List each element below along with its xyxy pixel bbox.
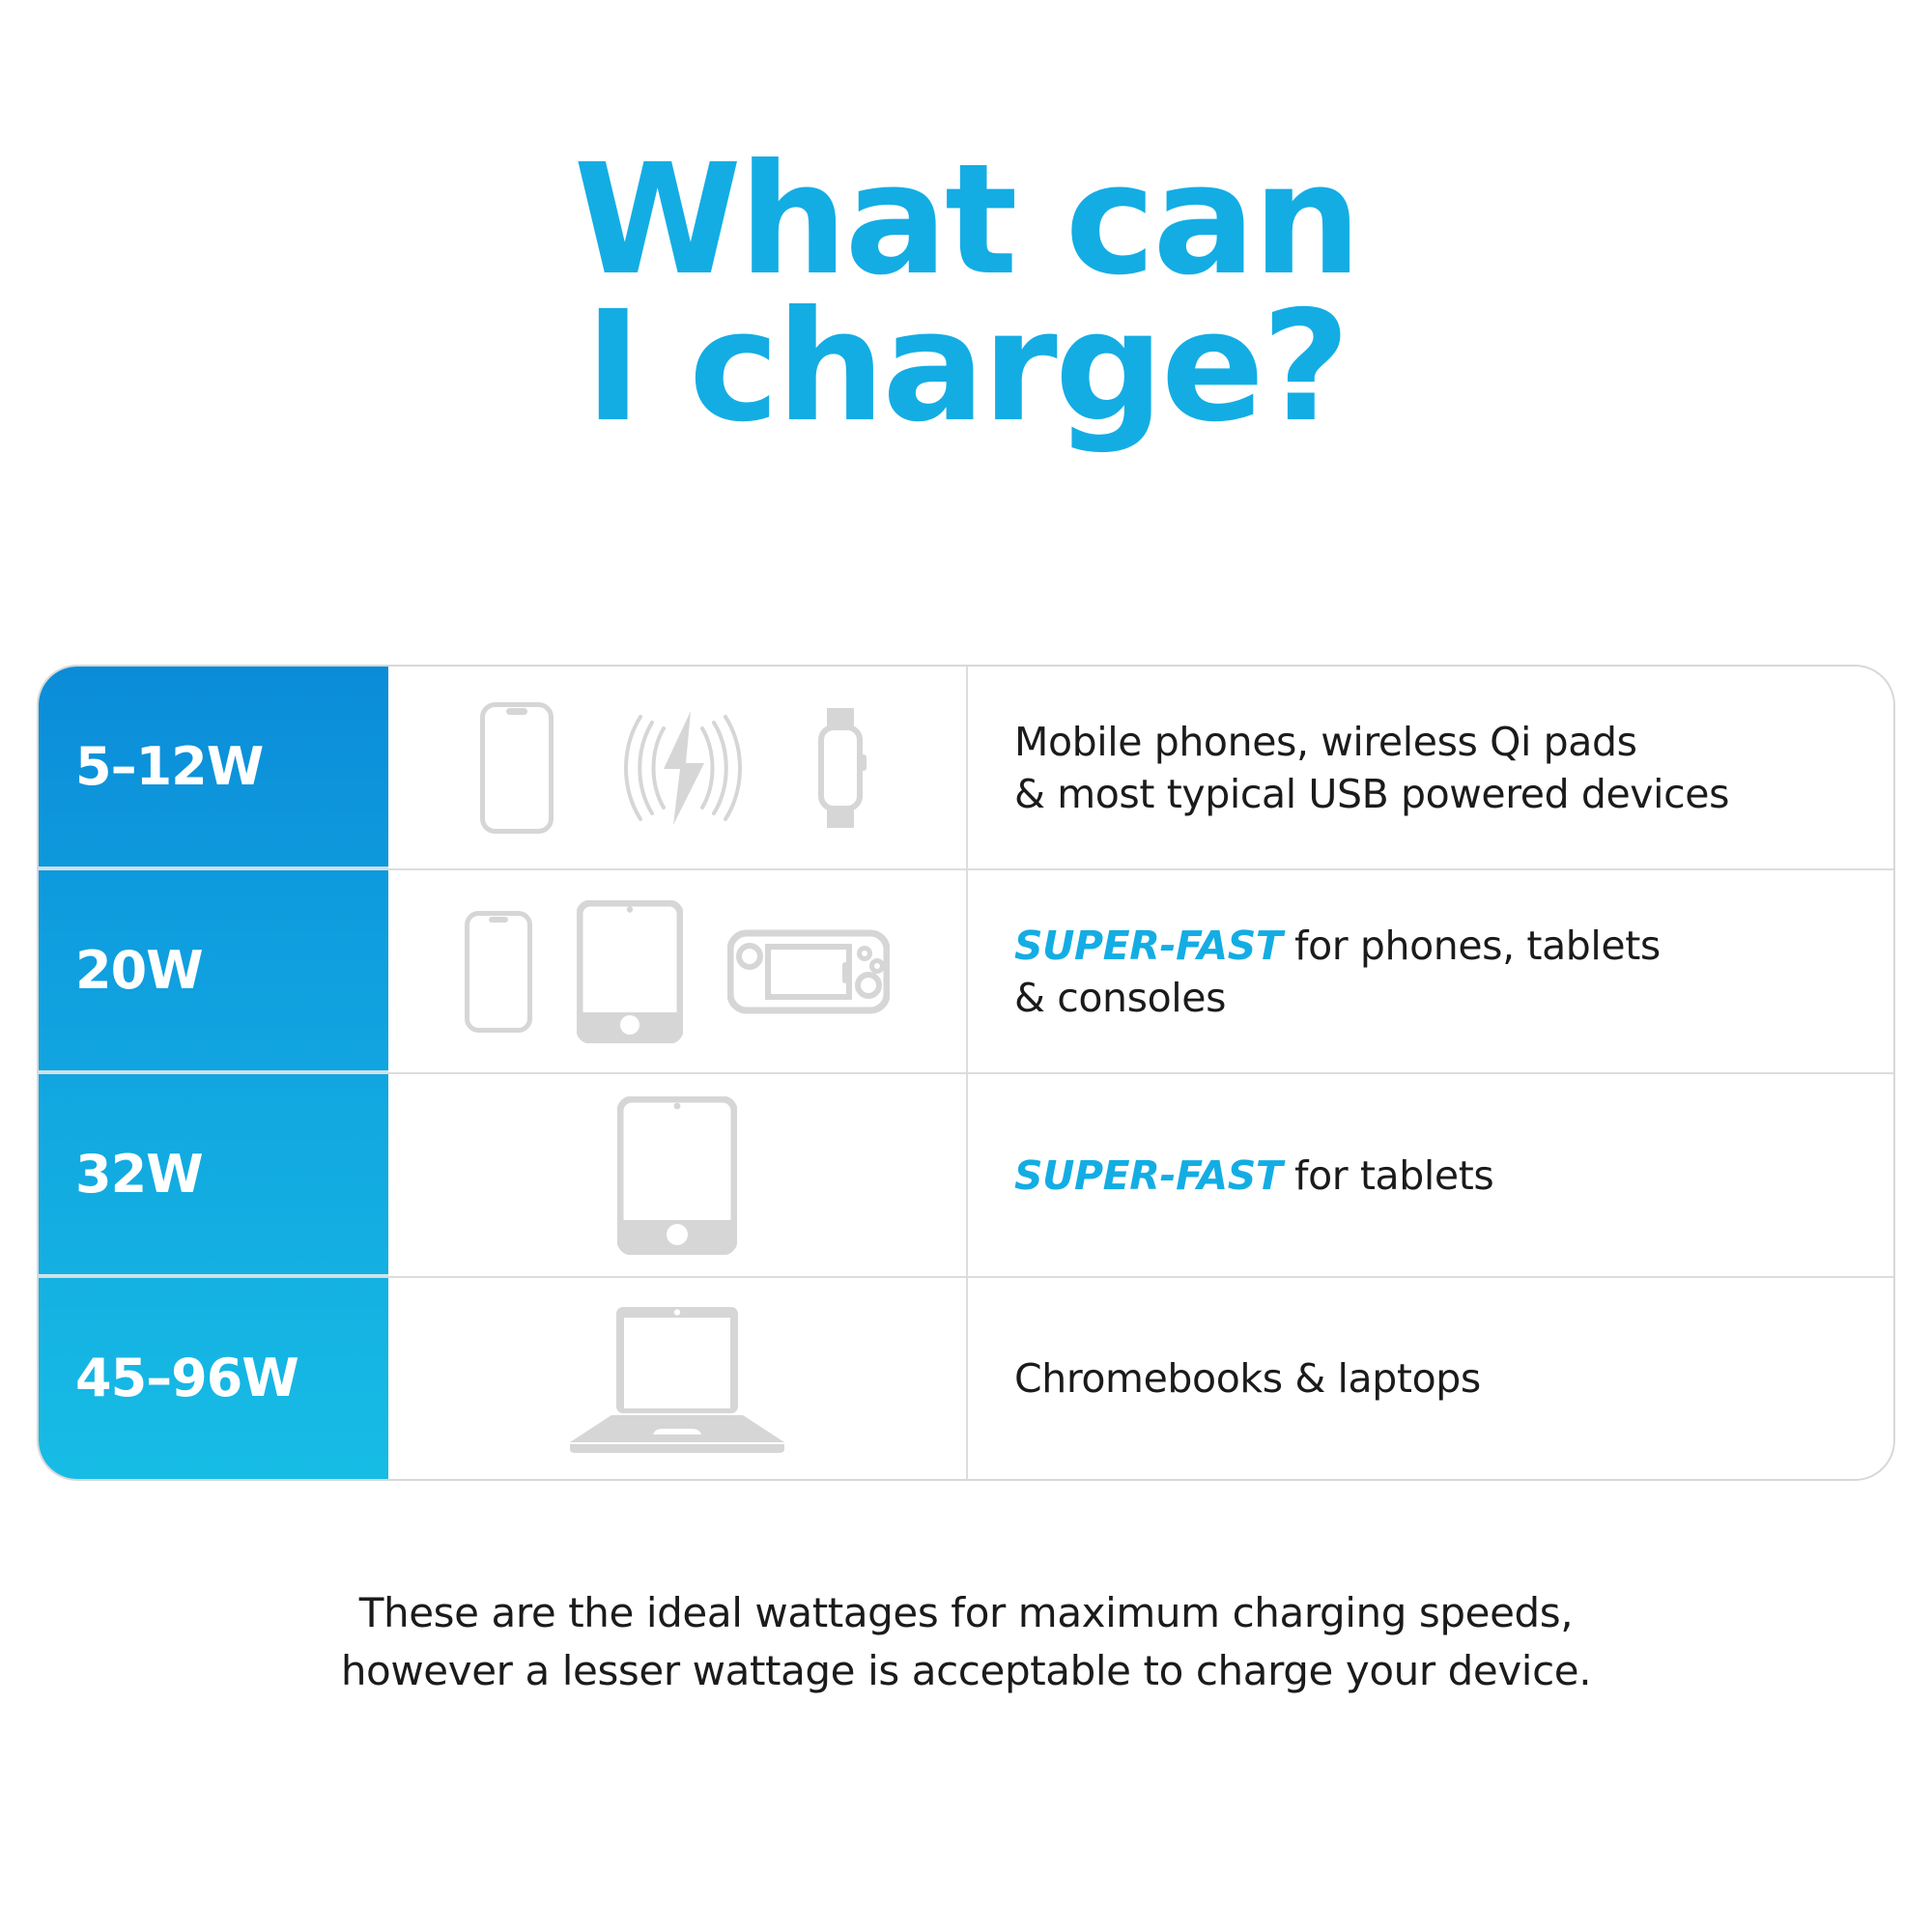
description-cell: SUPER-FAST for phones, tablets & console… xyxy=(968,870,1893,1072)
wattage-label: 5–12W xyxy=(75,741,263,793)
phone-notch-icon xyxy=(465,911,532,1033)
super-fast-emphasis: SUPER-FAST xyxy=(1014,1152,1282,1199)
wattage-table: 5–12W xyxy=(37,665,1895,1481)
wattage-cell: 20W xyxy=(39,870,388,1072)
infographic-page: What can I charge? 5–12W xyxy=(0,0,1932,1932)
page-title-line-2: I charge? xyxy=(0,294,1932,440)
page-title: What can I charge? xyxy=(0,147,1932,440)
tablet-icon xyxy=(577,900,683,1043)
footer-note: These are the ideal wattages for maximum… xyxy=(0,1584,1932,1700)
description-text: SUPER-FAST for tablets xyxy=(1014,1150,1493,1202)
table-row: 5–12W xyxy=(39,667,1893,870)
description-cell: Mobile phones, wireless Qi pads & most t… xyxy=(968,667,1893,868)
table-row: 45–96W Ch xyxy=(39,1278,1893,1479)
device-icons-cell xyxy=(388,667,968,868)
wattage-label: 45–96W xyxy=(75,1352,298,1405)
phone-notch-icon xyxy=(480,702,554,834)
super-fast-emphasis: SUPER-FAST xyxy=(1014,923,1282,969)
description-line-1: Mobile phones, wireless Qi pads xyxy=(1014,719,1637,765)
table-row: 32W SUPER-FAST for tablets xyxy=(39,1074,1893,1278)
description-line-2: & consoles xyxy=(1014,975,1226,1021)
description-cell: SUPER-FAST for tablets xyxy=(968,1074,1893,1276)
description-line-2: & most typical USB powered devices xyxy=(1014,771,1729,817)
wattage-cell: 45–96W xyxy=(39,1278,388,1479)
wireless-charging-icon xyxy=(615,705,751,831)
wattage-label: 20W xyxy=(75,945,203,997)
device-icons-cell xyxy=(388,870,968,1072)
handheld-console-icon xyxy=(727,922,890,1022)
tablet-icon xyxy=(617,1096,737,1255)
device-icons-cell xyxy=(388,1278,968,1479)
description-line-1-rest: for tablets xyxy=(1282,1152,1493,1199)
device-icons-cell xyxy=(388,1074,968,1276)
footer-line-2: however a lesser wattage is acceptable t… xyxy=(0,1642,1932,1700)
description-text: Mobile phones, wireless Qi pads & most t… xyxy=(1014,716,1729,820)
description-line-1-rest: for phones, tablets xyxy=(1282,923,1660,969)
description-text: Chromebooks & laptops xyxy=(1014,1352,1481,1405)
description-cell: Chromebooks & laptops xyxy=(968,1278,1893,1479)
wattage-cell: 32W xyxy=(39,1074,388,1276)
smartwatch-icon xyxy=(812,704,874,832)
footer-line-1: These are the ideal wattages for maximum… xyxy=(0,1584,1932,1642)
description-text: SUPER-FAST for phones, tablets & console… xyxy=(1014,920,1661,1024)
page-title-line-1: What can xyxy=(0,147,1932,294)
wattage-cell: 5–12W xyxy=(39,667,388,868)
wattage-label: 32W xyxy=(75,1149,203,1201)
laptop-icon xyxy=(566,1303,788,1454)
description-line-1: Chromebooks & laptops xyxy=(1014,1355,1481,1402)
table-row: 20W xyxy=(39,870,1893,1074)
